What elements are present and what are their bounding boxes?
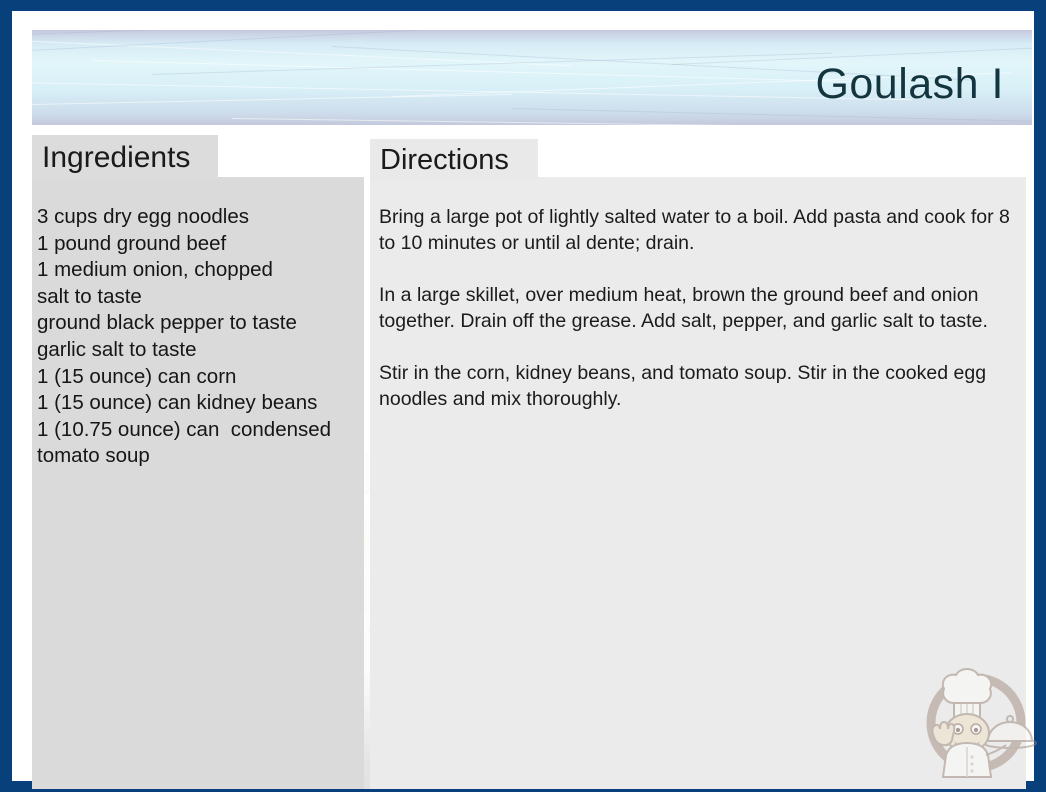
ingredient-item: 3 cups dry egg noodles (37, 204, 363, 231)
ingredient-item: salt to taste (37, 284, 363, 311)
ingredients-heading: Ingredients (42, 139, 190, 177)
ingredient-item: 1 (10.75 ounce) can condensed (37, 417, 363, 444)
direction-paragraph: Bring a large pot of lightly salted wate… (379, 204, 1019, 256)
page-title: Goulash I (815, 63, 1004, 106)
ingredient-item: ground black pepper to taste (37, 310, 363, 337)
ingredients-panel: 3 cups dry egg noodles1 pound ground bee… (32, 177, 364, 789)
title-banner: Goulash I (32, 30, 1032, 125)
page-surface: Goulash I (12, 11, 1034, 781)
directions-heading: Directions (380, 142, 509, 178)
ingredients-tab: Ingredients (32, 135, 218, 179)
ingredient-item: 1 pound ground beef (37, 231, 363, 258)
direction-paragraph: Stir in the corn, kidney beans, and toma… (379, 360, 1019, 412)
directions-tab: Directions (370, 139, 538, 179)
directions-body: Bring a large pot of lightly salted wate… (379, 204, 1019, 412)
direction-paragraph: In a large skillet, over medium heat, br… (379, 282, 1019, 334)
ingredient-item: 1 (15 ounce) can corn (37, 364, 363, 391)
slide-frame: Goulash I (0, 0, 1046, 792)
ingredient-item: 1 (15 ounce) can kidney beans (37, 390, 363, 417)
chef-logo-icon (910, 651, 1042, 783)
ingredients-list: 3 cups dry egg noodles1 pound ground bee… (37, 204, 363, 470)
ingredient-item: garlic salt to taste (37, 337, 363, 364)
ingredient-item: tomato soup (37, 443, 363, 470)
ingredient-item: 1 medium onion, chopped (37, 257, 363, 284)
